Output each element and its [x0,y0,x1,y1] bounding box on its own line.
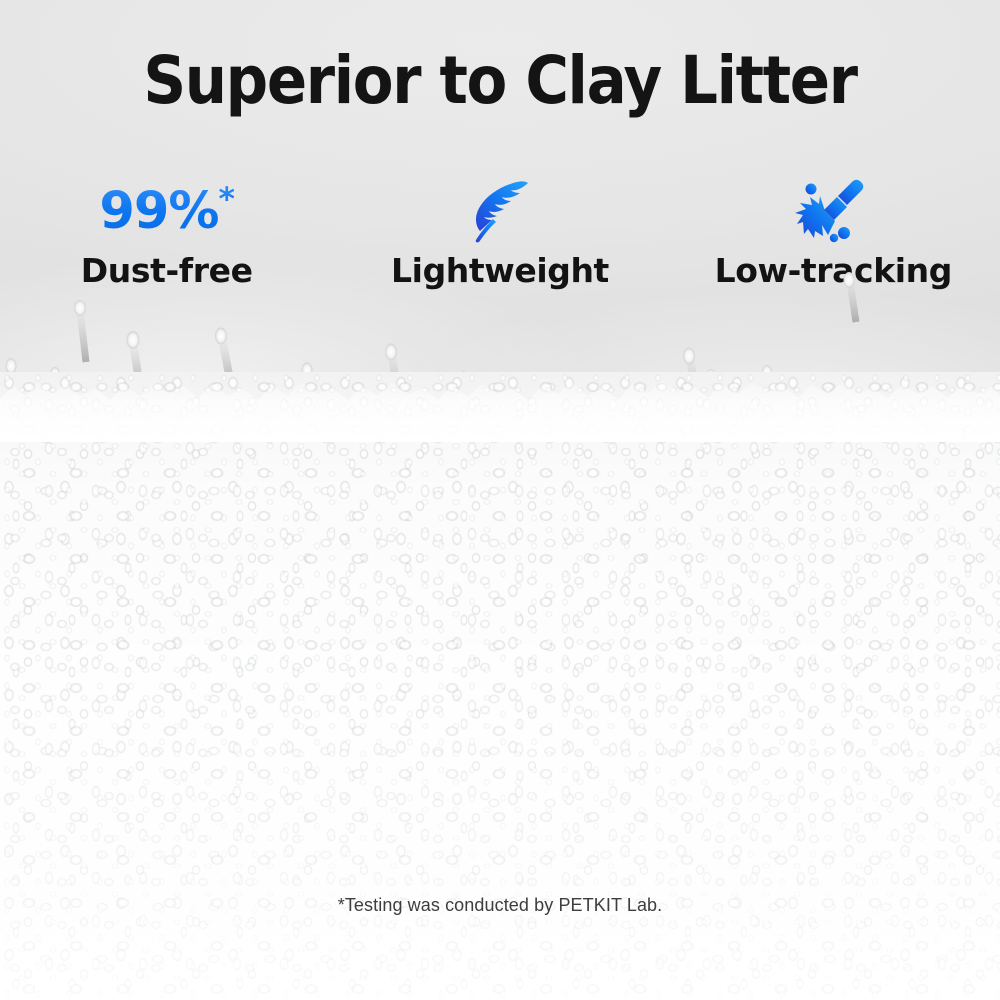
feature-row: 99%* Dust-free [0,160,1000,290]
broom-icon [792,177,874,245]
feature-label-lightweight: Lightweight [391,251,609,290]
feature-low-tracking: Low-tracking [667,160,1000,290]
feather-icon-svg [462,178,538,244]
feather-blade [476,181,528,231]
dust-free-stat-value: 99% [99,182,218,241]
broom-icon-svg [792,178,874,244]
percent-stat-icon: 99%* [99,177,234,245]
feature-lightweight: Lightweight [333,160,666,290]
dust-speck-top [806,184,817,195]
product-feature-graphic: Superior to Clay Litter 99%* Dust-free [0,0,1000,1000]
broom-handle [838,180,863,205]
feature-dust-free: 99%* Dust-free [0,160,333,290]
dust-speck-bottom [830,234,838,242]
broom-bristles [795,196,835,238]
page-title: Superior to Clay Litter [50,48,950,114]
feature-label-low-tracking: Low-tracking [715,251,952,290]
dust-speck-right [838,227,850,239]
feature-label-dust-free: Dust-free [81,251,253,290]
feather-icon [462,177,538,245]
dust-free-stat-marker: * [218,182,234,218]
footnote: *Testing was conducted by PETKIT Lab. [0,895,1000,916]
dust-free-stat: 99%* [99,185,234,237]
